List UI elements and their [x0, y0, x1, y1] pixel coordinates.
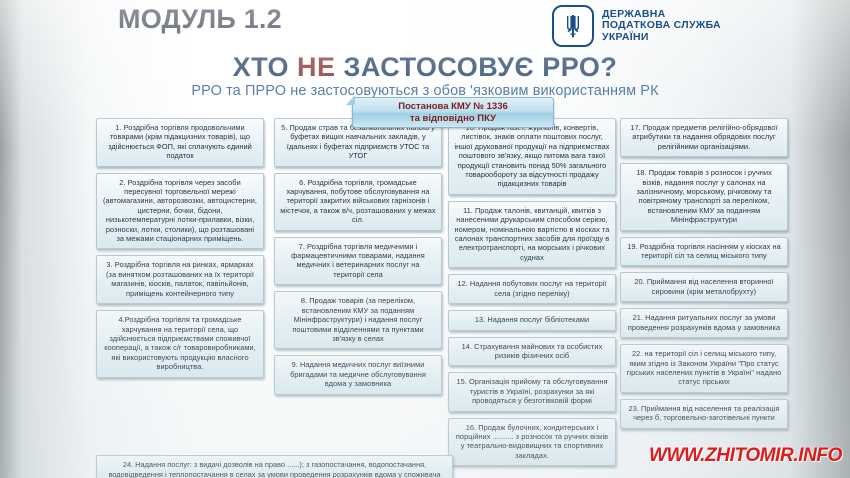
exemption-item: 17. Продаж предметів релігійно-обрядової… — [620, 118, 788, 157]
tax-service-logo: ДЕРЖАВНАПОДАТКОВА СЛУЖБАУКРАЇНИ — [552, 5, 721, 47]
column-4: 17. Продаж предметів релігійно-обрядової… — [620, 118, 788, 435]
exemption-item: 16. Продаж булочних, кондитерських і пор… — [448, 418, 616, 467]
exemption-item-full-width: 24. Надання послуг: з видачі дозволів на… — [96, 455, 453, 478]
exemption-item: 8. Продаж товарів (за переліком, встанов… — [274, 291, 442, 349]
exemption-item: 22. на території сіл і селищ міського ти… — [620, 344, 788, 393]
exemption-item: 19. Роздрібна торгівля насінням у кіоска… — [620, 237, 788, 267]
site-watermark: WWW.ZHITOMIR.INFO — [649, 445, 842, 467]
exemption-item: 2. Роздрібна торгівля через засоби перес… — [96, 173, 264, 250]
exemption-item: 21. Надання ритуальних послуг за умови п… — [620, 308, 788, 338]
decree-line-1: Постанова КМУ № 1336 — [398, 101, 508, 113]
column-2: 5. Продаж страв та безалкогольних напоїв… — [274, 118, 442, 401]
decree-line-2: та відповідно ПКУ — [410, 113, 496, 125]
exemption-item: 11. Продаж талонів, квитанцій, квитків з… — [448, 201, 616, 268]
heading-part-2: ЗАСТОСОВУЄ РРО? — [336, 52, 618, 82]
exemption-item: 18. Продаж товарів з розносок і ручних в… — [620, 163, 788, 230]
logo-line-3: УКРАЇНИ — [602, 31, 649, 43]
exemption-item: 15. Організація прийому та обслуговуванн… — [448, 372, 616, 411]
main-heading: ХТО НЕ ЗАСТОСОВУЄ РРО? — [0, 52, 850, 83]
logo-line-1: ДЕРЖАВНА — [602, 8, 666, 20]
column-1: 1. Роздрібна торгівля продовольчими това… — [96, 118, 264, 384]
exemption-item: 6. Роздрібна торгівля, громадське харчув… — [274, 173, 442, 231]
exemption-item: 9. Надання медичних послуг виїзними бриг… — [274, 355, 442, 394]
logo-line-2: ПОДАТКОВА СЛУЖБА — [602, 19, 721, 31]
exemption-item: 23. Приймання від населення та реалізаці… — [620, 399, 788, 429]
exemption-item: 1. Роздрібна торгівля продовольчими това… — [96, 118, 264, 167]
logo-text: ДЕРЖАВНАПОДАТКОВА СЛУЖБАУКРАЇНИ — [602, 9, 721, 44]
exemption-item: 10. Продаж газет, журналів, конвертів, л… — [448, 118, 616, 195]
exemption-item: 4.Роздрібна торгівля та громадське харчу… — [96, 310, 264, 377]
exemption-item: 7. Роздрібна торгівля медичними і фармац… — [274, 237, 442, 286]
banner-tail-icon — [346, 95, 355, 105]
exemption-item: 14. Страхування майнових та особистих ри… — [448, 337, 616, 367]
decree-badge: Постанова КМУ № 1336 та відповідно ПКУ — [352, 97, 554, 128]
exemption-item: 13. Надання послуг бібліотеками — [448, 310, 616, 330]
slide-canvas: МОДУЛЬ 1.2 ДЕРЖАВНАПОДАТКОВА СЛУЖБАУКРАЇ… — [0, 0, 850, 478]
page-title: МОДУЛЬ 1.2 — [118, 4, 282, 35]
heading-accent: НЕ — [297, 52, 336, 82]
exemption-item: 12. Надання побутових послуг на територі… — [448, 274, 616, 304]
column-3: 10. Продаж газет, журналів, конвертів, л… — [448, 118, 616, 472]
ukraine-trident-icon — [552, 5, 594, 47]
exemption-item: 3. Роздрібна торгівля на ринках, ярмарка… — [96, 255, 264, 304]
exemption-item: 20. Приймання від населення вторинної си… — [620, 272, 788, 302]
heading-part-1: ХТО — [233, 52, 297, 82]
